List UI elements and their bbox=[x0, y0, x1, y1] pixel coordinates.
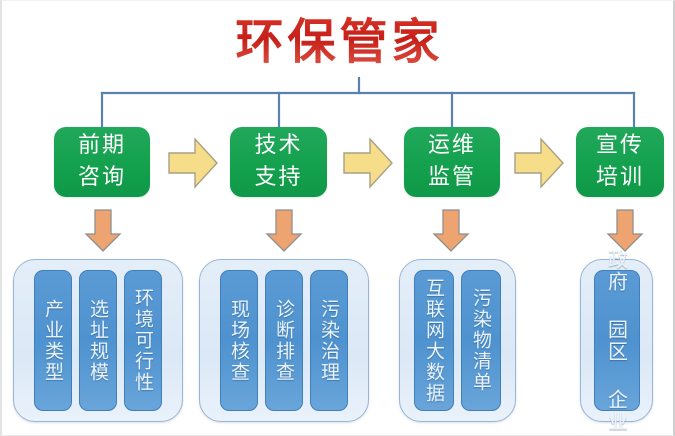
arrow-right-icon-2 bbox=[340, 135, 396, 191]
stage-box-1-line1: 前期 bbox=[78, 130, 126, 162]
detail-chip-3-1[interactable]: 互联网大数据 bbox=[414, 270, 454, 411]
arrow-down-icon-3 bbox=[432, 208, 470, 253]
detail-chip-1-1[interactable]: 产业类型 bbox=[34, 270, 72, 411]
detail-group-4: 政府 园区 企业 bbox=[580, 259, 653, 422]
arrow-right-icon-3 bbox=[511, 135, 567, 191]
arrow-down-icon-4 bbox=[606, 208, 644, 253]
detail-chip-4-1[interactable]: 政府 园区 企业 bbox=[594, 270, 640, 411]
detail-chip-2-2[interactable]: 诊断排查 bbox=[265, 270, 303, 411]
page-title: 环保管家 bbox=[2, 13, 675, 71]
bracket-connector bbox=[2, 77, 675, 131]
stage-box-1[interactable]: 前期 咨询 bbox=[54, 127, 150, 197]
detail-chip-2-3[interactable]: 污染治理 bbox=[310, 270, 348, 411]
arrow-down-icon-2 bbox=[265, 208, 303, 253]
detail-group-2: 现场核查 诊断排查 污染治理 bbox=[199, 259, 369, 422]
stage-box-2[interactable]: 技术 支持 bbox=[230, 127, 327, 197]
detail-chip-1-2[interactable]: 选址规模 bbox=[79, 270, 117, 411]
stage-box-3-line1: 运维 bbox=[428, 130, 476, 162]
detail-group-1: 产业类型 选址规模 环境可行性 bbox=[13, 259, 183, 422]
diagram-canvas: 环保管家 前期 咨询 技术 支持 运维 监管 宣传 bbox=[0, 0, 675, 436]
stage-box-3-line2: 监管 bbox=[428, 162, 476, 194]
diagram-stage: 环保管家 前期 咨询 技术 支持 运维 监管 宣传 bbox=[2, 1, 675, 436]
arrow-down-icon-1 bbox=[84, 208, 122, 253]
detail-chip-3-2[interactable]: 污染物清单 bbox=[461, 270, 501, 411]
stage-box-4-line2: 培训 bbox=[596, 162, 644, 194]
arrow-right-icon-1 bbox=[165, 135, 221, 191]
stage-box-1-line2: 咨询 bbox=[78, 162, 126, 194]
stage-box-4[interactable]: 宣传 培训 bbox=[576, 127, 664, 197]
detail-chip-2-1[interactable]: 现场核查 bbox=[220, 270, 258, 411]
stage-box-2-line2: 支持 bbox=[254, 162, 302, 194]
stage-box-4-line1: 宣传 bbox=[596, 130, 644, 162]
detail-chip-1-3[interactable]: 环境可行性 bbox=[124, 270, 162, 411]
stage-box-3[interactable]: 运维 监管 bbox=[404, 127, 500, 197]
detail-group-3: 互联网大数据 污染物清单 bbox=[399, 259, 516, 422]
stage-box-2-line1: 技术 bbox=[254, 130, 302, 162]
